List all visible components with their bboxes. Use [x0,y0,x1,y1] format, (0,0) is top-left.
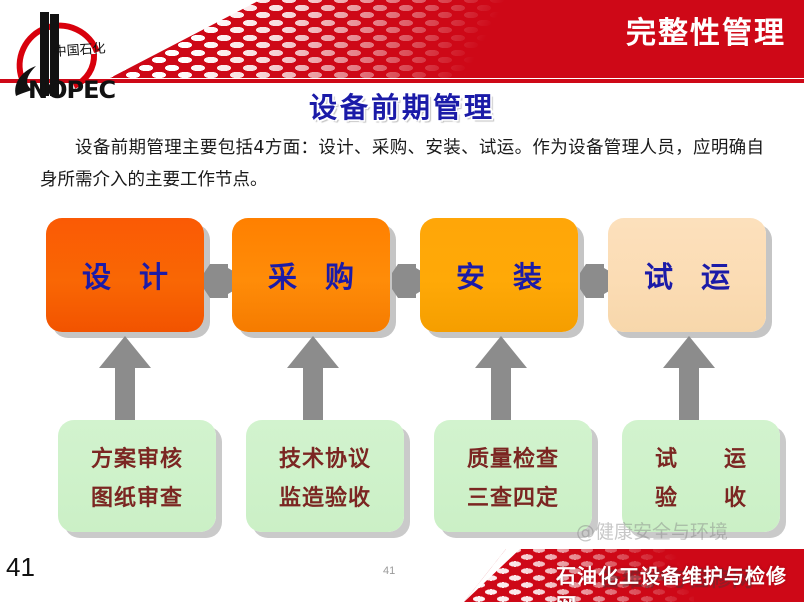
task-box-installation[interactable]: 质量检查 三查四定 [434,420,592,532]
header-title: 完整性管理 [626,19,786,49]
header-divider-rule [0,79,804,83]
svg-text:中国石化: 中国石化 [53,41,106,60]
arrow-up-icon [287,336,339,428]
task-line-1: 技术协议 [279,441,371,473]
page-number-small: 41 [383,565,395,577]
flow-stage-label: 采 购 [259,254,363,296]
arrow-up-icon [99,336,151,428]
task-line-2: 监造验收 [279,480,371,512]
page-number-large: 41 [6,552,35,583]
task-line-1: 方案审核 [91,441,183,473]
flow-stage-procurement[interactable]: 采 购 [232,218,390,332]
task-box-procurement[interactable]: 技术协议 监造验收 [246,420,404,532]
task-line-2: 三查四定 [467,480,559,512]
slide-canvas: 完整性管理 中国石化 NOPEC 设备前期管理 设备前期管理主要包括4方面：设计… [0,0,804,602]
flow-stage-label: 设 计 [73,254,177,296]
flow-stage-label: 安 装 [447,254,551,296]
page-title: 设备前期管理 [0,86,804,126]
flow-stage-installation[interactable]: 安 装 [420,218,578,332]
body-paragraph: 设备前期管理主要包括4方面：设计、采购、安装、试运。作为设备管理人员，应明确自身… [40,132,764,197]
header-band: 完整性管理 [110,0,804,78]
task-line-2: 图纸审查 [91,480,183,512]
task-line-1: 质量检查 [467,441,559,473]
task-line-1: 试 运 [655,441,747,473]
flow-stage-commissioning[interactable]: 试 运 [608,218,766,332]
flow-stage-row: 设 计 采 购 安 装 试 运 [0,218,804,338]
flow-stage-design[interactable]: 设 计 [46,218,204,332]
flow-stage-label: 试 运 [635,254,739,296]
task-box-design[interactable]: 方案审核 图纸审查 [58,420,216,532]
arrow-up-icon [663,336,715,428]
footer-site-name: 石油化工设备维护与检修网 [556,560,804,602]
arrow-up-icon [475,336,527,428]
task-line-2: 验 收 [655,480,747,512]
task-box-commissioning[interactable]: 试 运 验 收 [622,420,780,532]
